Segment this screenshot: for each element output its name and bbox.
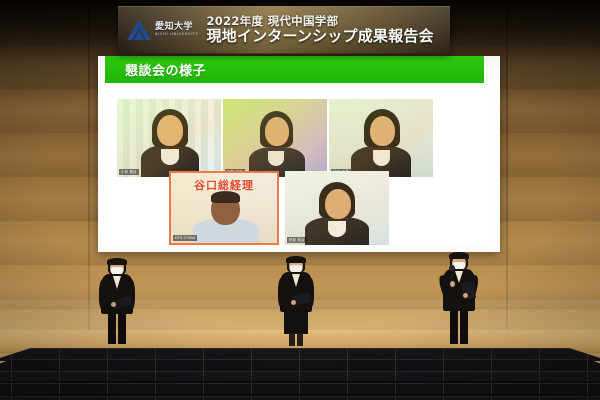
video-tile-top-left: 小林 美月	[117, 99, 221, 177]
university-name-jp: 愛知大学	[155, 23, 198, 32]
slide-content-area: 小林 美月 加藤 実花	[106, 90, 492, 244]
audience-seat	[0, 349, 12, 361]
video-tile-label: HTS CHINA	[173, 235, 197, 241]
projection-screen: 懇談会の様子 小林 美月	[98, 56, 500, 252]
auditorium-scene: 懇談会の様子 小林 美月	[0, 0, 600, 400]
banner-main-title: 現地インターンシップ成果報告会	[206, 29, 444, 45]
presenter-right	[434, 252, 484, 344]
video-conference-grid: 小林 美月 加藤 実花	[117, 99, 481, 235]
aichi-university-triangle-logo	[126, 18, 152, 42]
university-logo: 愛知大学 AICHI UNIVERSITY	[118, 18, 198, 42]
university-name-en: AICHI UNIVERSITY	[155, 33, 198, 37]
slide-title: 懇談会の様子	[125, 60, 206, 79]
audience-seating	[0, 348, 600, 400]
slide-highlight-caption: 谷口総経理	[171, 177, 277, 193]
slide-header-bar: 懇談会の様子	[105, 56, 484, 83]
video-tile-label: 阿部 和治	[287, 237, 307, 243]
video-tile-bottom-right: 阿部 和治	[285, 171, 389, 245]
video-tile-bottom-left-highlighted: 谷口総経理 HTS CHINA	[169, 171, 279, 245]
presenter-center	[272, 256, 320, 346]
audience-seat	[588, 349, 600, 361]
presenter-left	[94, 258, 140, 344]
banner-subtitle: 2022年度 現代中国学部	[206, 15, 444, 27]
seat-row	[0, 396, 600, 400]
video-tile-top-right: 渋谷 乙葉	[329, 99, 433, 177]
university-name-block: 愛知大学 AICHI UNIVERSITY	[155, 23, 198, 37]
seat-row	[0, 359, 600, 373]
event-title-banner: 愛知大学 AICHI UNIVERSITY 2022年度 現代中国学部 現地イン…	[118, 6, 450, 54]
banner-title-block: 2022年度 現代中国学部 現地インターンシップ成果報告会	[198, 15, 450, 45]
projected-slide: 懇談会の様子 小林 美月	[98, 56, 500, 252]
video-tile-top-center: 加藤 実花	[223, 99, 327, 177]
video-tile-label: 小林 美月	[119, 169, 139, 175]
